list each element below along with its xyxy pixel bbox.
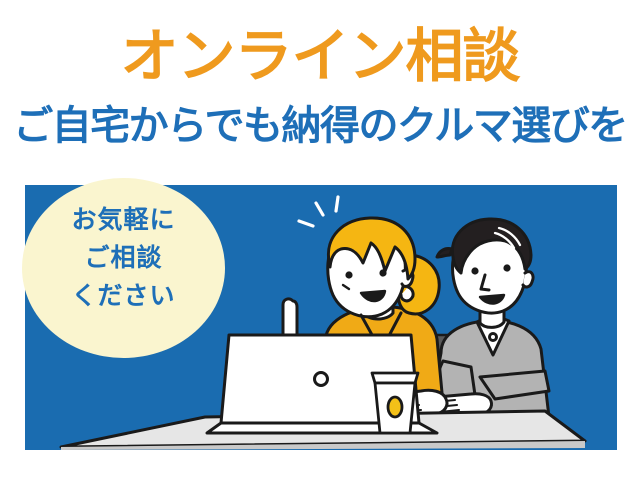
page-title: オンライン相談 [0,26,640,86]
coffee-cup-shape [372,373,418,433]
badge-text: お気軽に ご相談 ください [22,201,225,315]
banner-image: オンライン相談 ご自宅からでも納得のクルマ選びを [0,0,640,480]
badge-line-3: ください [22,277,225,315]
page-subtitle: ご自宅からでも納得のクルマ選びを [0,104,640,148]
badge-line-2: ご相談 [22,239,225,277]
badge-line-1: お気軽に [22,201,225,239]
headline-area: オンライン相談 ご自宅からでも納得のクルマ選びを [0,0,640,172]
sparkle-lines-shape [299,197,338,226]
illustration-panel: お気軽に ご相談 ください [25,185,617,450]
